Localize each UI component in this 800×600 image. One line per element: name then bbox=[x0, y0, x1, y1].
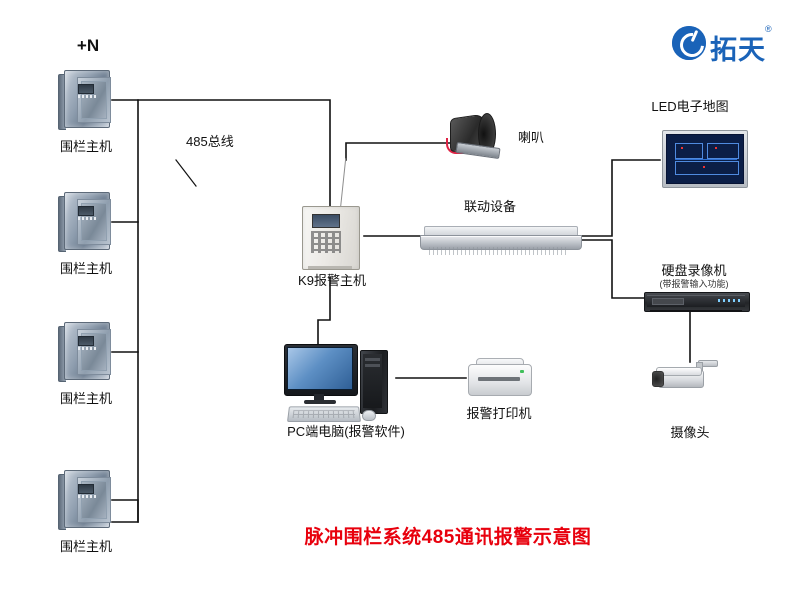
fence-host-body bbox=[64, 192, 110, 250]
linkage-device-chassis bbox=[420, 235, 582, 250]
fence-host-2-label: 围栏主机 bbox=[60, 262, 112, 277]
pc-label: PC端电脑(报警软件) bbox=[287, 425, 405, 440]
fence-host-body bbox=[64, 322, 110, 380]
bus-label: 485总线 bbox=[186, 135, 234, 150]
alarm-printer bbox=[468, 358, 530, 398]
fence-host-4 bbox=[58, 470, 112, 530]
monitor-stand bbox=[304, 400, 336, 404]
brand-logo: 拓天 ® bbox=[672, 24, 780, 64]
keyboard-keys bbox=[293, 410, 356, 418]
led-map-zone bbox=[675, 143, 703, 159]
pc-tower-drive-slot-icon bbox=[365, 358, 380, 361]
speaker-label: 喇叭 bbox=[518, 131, 544, 146]
camera bbox=[652, 358, 718, 402]
camera-label: 摄像头 bbox=[670, 426, 709, 441]
dvr-sublabel: (带报警输入功能) bbox=[660, 279, 729, 289]
fence-host-body bbox=[64, 70, 110, 128]
fence-host-1-label: 围栏主机 bbox=[60, 140, 112, 155]
k9-keypad-icon bbox=[311, 231, 341, 253]
alarm-printer-label: 报警打印机 bbox=[466, 407, 531, 422]
k9-display-icon bbox=[312, 214, 340, 228]
speaker bbox=[444, 112, 516, 164]
fence-host-4-label: 围栏主机 bbox=[60, 540, 112, 555]
dvr-base bbox=[650, 310, 742, 312]
led-map-alarm-dot-icon bbox=[715, 147, 717, 149]
pc-tower-front-panel bbox=[363, 354, 382, 408]
diagram-title: 脉冲围栏系统485通讯报警示意图 bbox=[305, 522, 592, 549]
pc bbox=[284, 344, 396, 422]
plus-n-label: +N bbox=[77, 36, 99, 56]
fence-host-display-icon bbox=[78, 484, 94, 494]
fence-host-led-strip-icon bbox=[78, 217, 96, 220]
fence-host-led-strip-icon bbox=[78, 347, 96, 350]
fence-host-display-icon bbox=[78, 84, 94, 94]
registered-trademark-icon: ® bbox=[765, 24, 772, 34]
linkage-device bbox=[420, 226, 580, 252]
led-map-label: LED电子地图 bbox=[651, 100, 728, 115]
dvr-drive-bay-icon bbox=[652, 298, 684, 305]
k9-base bbox=[308, 266, 352, 269]
dvr-status-leds-icon bbox=[718, 299, 740, 302]
k9-alarm-host bbox=[302, 196, 364, 268]
camera-lens-icon bbox=[652, 371, 664, 387]
fence-host-3-label: 围栏主机 bbox=[60, 392, 112, 407]
led-map-zone bbox=[675, 161, 739, 175]
linkage-device-vents-icon bbox=[429, 247, 569, 255]
led-map-screen bbox=[666, 134, 744, 184]
fence-host-display-icon bbox=[78, 336, 94, 346]
fence-host-3 bbox=[58, 322, 112, 382]
dvr-label: 硬盘录像机 bbox=[661, 264, 726, 279]
diagram-canvas: 拓天 ® +N 围栏主机 围栏主机 围栏主机 bbox=[0, 0, 800, 600]
fence-host-1 bbox=[58, 70, 112, 130]
fence-host-body bbox=[64, 470, 110, 528]
brand-wordmark: 拓天 bbox=[710, 28, 766, 67]
led-map-alarm-dot-icon bbox=[703, 166, 705, 168]
linkage-device-label: 联动设备 bbox=[464, 200, 516, 215]
fence-host-2 bbox=[58, 192, 112, 252]
mouse-icon bbox=[362, 410, 376, 421]
led-map-zone bbox=[707, 143, 739, 159]
fence-host-display-icon bbox=[78, 206, 94, 216]
pc-tower-drive-slot-icon bbox=[365, 364, 380, 367]
led-map-alarm-dot-icon bbox=[681, 147, 683, 149]
k9-alarm-host-label: K9报警主机 bbox=[298, 274, 366, 289]
brand-mark-icon bbox=[672, 26, 706, 60]
dvr bbox=[644, 288, 748, 314]
monitor-screen bbox=[287, 347, 353, 390]
printer-status-led-icon bbox=[520, 370, 524, 373]
printer-paper-slot-icon bbox=[478, 377, 520, 381]
led-map bbox=[662, 130, 748, 188]
fence-host-led-strip-icon bbox=[78, 95, 96, 98]
fence-host-led-strip-icon bbox=[78, 495, 96, 498]
led-map-line bbox=[675, 159, 737, 160]
keyboard-icon bbox=[287, 406, 361, 422]
